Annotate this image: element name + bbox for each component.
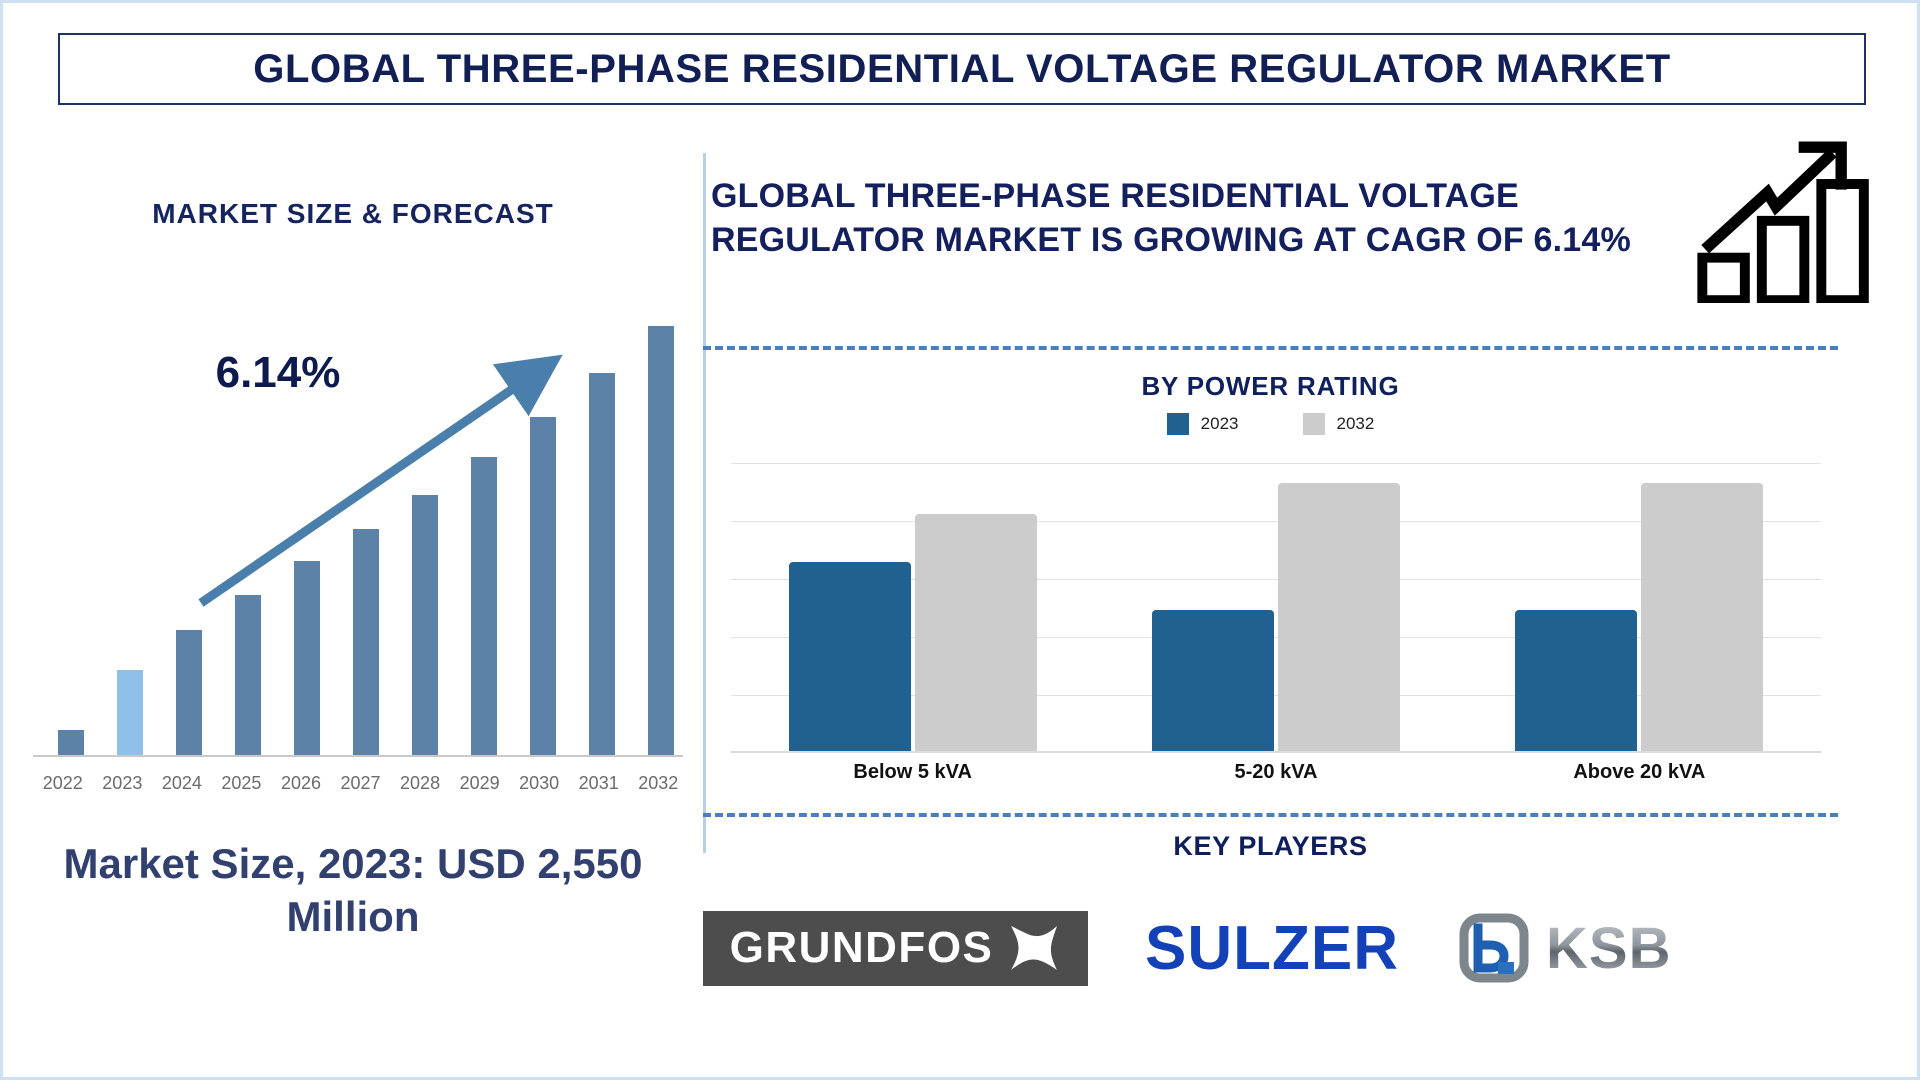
power-rating-bar [1278, 483, 1400, 753]
logo-grundfos-label: GRUNDFOS [730, 923, 994, 973]
year-label: 2029 [450, 773, 510, 794]
ksb-b-icon [1456, 910, 1532, 986]
segment-title: BY POWER RATING [703, 371, 1838, 402]
year-label: 2032 [628, 773, 688, 794]
legend-item[interactable]: 2023 [1167, 413, 1239, 435]
divider-dashed-bottom [703, 813, 1838, 817]
market-size-bar-slot [41, 285, 100, 755]
logo-ksb-label: KSB [1546, 915, 1671, 982]
year-label: 2023 [93, 773, 153, 794]
chart-legend: 20232032 [703, 413, 1838, 435]
growth-arrow-bars-icon [1688, 133, 1898, 303]
divider-dashed-top [703, 346, 1838, 350]
market-size-value: Market Size, 2023: USD 2,550 Million [13, 838, 693, 943]
market-size-bar [412, 495, 438, 755]
market-size-bar-slot [100, 285, 159, 755]
power-rating-category-labels: Below 5 kVA5-20 kVAAbove 20 kVA [731, 761, 1821, 784]
category-label: Below 5 kVA [731, 761, 1094, 784]
market-size-bar [117, 670, 143, 755]
power-rating-baseline [731, 751, 1821, 753]
bar-group [1458, 463, 1821, 753]
market-size-bar-slot [573, 285, 632, 755]
market-size-bar-slot [396, 285, 455, 755]
market-size-bar [648, 326, 674, 755]
category-label: 5-20 kVA [1094, 761, 1457, 784]
logo-ksb: KSB [1456, 908, 1726, 988]
legend-swatch [1303, 413, 1325, 435]
right-panel: GLOBAL THREE-PHASE RESIDENTIAL VOLTAGE R… [703, 113, 1920, 1073]
power-rating-chart [731, 463, 1821, 753]
market-size-bar [58, 730, 84, 755]
year-label: 2024 [152, 773, 212, 794]
market-size-bar [353, 529, 379, 755]
market-size-bar-slot [455, 285, 514, 755]
bar-group [731, 463, 1094, 753]
market-size-bar-slot [514, 285, 573, 755]
year-label: 2027 [331, 773, 391, 794]
title-banner: GLOBAL THREE-PHASE RESIDENTIAL VOLTAGE R… [58, 33, 1866, 105]
market-size-bar [471, 457, 497, 755]
market-size-year-labels: 2022202320242025202620272028202920302031… [33, 773, 688, 794]
market-size-bar [176, 630, 202, 755]
logo-grundfos: GRUNDFOS [703, 911, 1088, 986]
year-label: 2022 [33, 773, 93, 794]
legend-label: 2023 [1201, 414, 1239, 434]
year-label: 2030 [509, 773, 569, 794]
legend-item[interactable]: 2032 [1303, 413, 1375, 435]
year-label: 2026 [271, 773, 331, 794]
logo-sulzer: SULZER [1122, 908, 1422, 988]
logo-sulzer-label: SULZER [1145, 913, 1399, 984]
market-size-panel: MARKET SIZE & FORECAST 6.14% 20222023202… [3, 113, 703, 1073]
bar-group [1094, 463, 1457, 753]
market-size-bar [589, 373, 615, 755]
market-size-axis-line [33, 755, 683, 757]
cagr-callout: 6.14% [153, 348, 403, 398]
year-label: 2025 [212, 773, 272, 794]
market-size-bar [294, 561, 320, 755]
key-players-logos: GRUNDFOS SULZER KSB [703, 888, 1903, 1008]
headline-text: GLOBAL THREE-PHASE RESIDENTIAL VOLTAGE R… [711, 175, 1701, 262]
market-size-bar [235, 595, 261, 755]
key-players-title: KEY PLAYERS [703, 831, 1838, 862]
power-rating-bar [1152, 610, 1274, 753]
power-rating-bar [789, 562, 911, 753]
legend-label: 2032 [1337, 414, 1375, 434]
market-size-bar-slot [632, 285, 691, 755]
market-size-bar [530, 417, 556, 755]
power-rating-bar [1515, 610, 1637, 753]
infographic-canvas: GLOBAL THREE-PHASE RESIDENTIAL VOLTAGE R… [0, 0, 1920, 1080]
market-size-heading: MARKET SIZE & FORECAST [3, 198, 703, 230]
power-rating-bar-groups [731, 463, 1821, 753]
category-label: Above 20 kVA [1458, 761, 1821, 784]
power-rating-bar [1641, 483, 1763, 753]
legend-swatch [1167, 413, 1189, 435]
market-size-forecast-chart [33, 273, 688, 763]
grundfos-x-icon [1007, 922, 1061, 974]
power-rating-bar [915, 514, 1037, 753]
year-label: 2031 [569, 773, 629, 794]
page-title: GLOBAL THREE-PHASE RESIDENTIAL VOLTAGE R… [253, 47, 1671, 92]
year-label: 2028 [390, 773, 450, 794]
